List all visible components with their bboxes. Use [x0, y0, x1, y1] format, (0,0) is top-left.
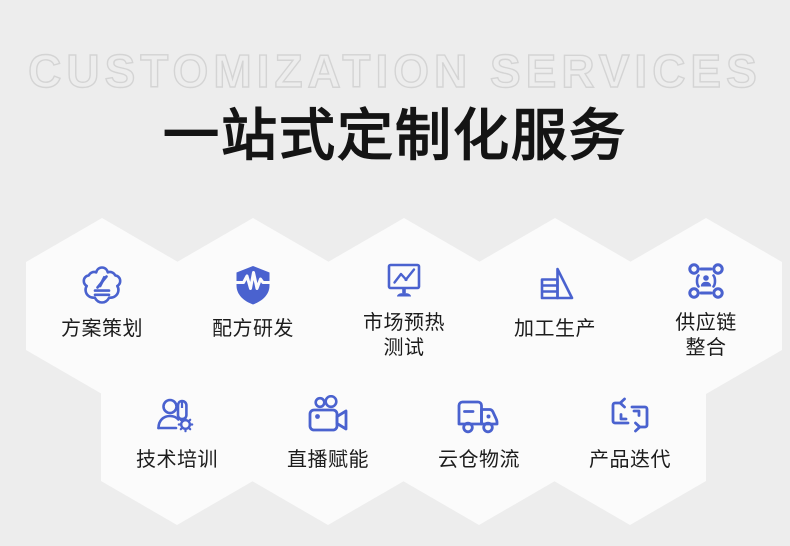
service-label: 产品迭代 — [560, 447, 700, 472]
service-label: 加工生产 — [485, 316, 625, 341]
service-label: 市场预热 测试 — [334, 310, 474, 360]
services-hex-grid: 方案策划 配方研发 市场预热 — [0, 196, 790, 546]
monitor-chart-icon — [382, 258, 426, 304]
video-camera-icon — [305, 393, 351, 439]
service-label-line2: 整合 — [686, 335, 727, 359]
shield-pulse-icon — [231, 262, 275, 308]
factory-icon — [532, 262, 578, 308]
supply-network-icon — [685, 258, 727, 304]
service-label-line1: 市场预热 — [363, 310, 445, 334]
service-label: 直播赋能 — [258, 447, 398, 472]
customization-services-page: CUSTOMIZATION SERVICES 一站式定制化服务 方案策划 — [0, 0, 790, 546]
service-label: 云仓物流 — [409, 447, 549, 472]
page-title: 一站式定制化服务 — [0, 106, 790, 168]
service-label-line2: 测试 — [384, 335, 425, 359]
person-gear-icon — [154, 393, 200, 439]
service-label: 技术培训 — [107, 447, 247, 472]
service-label: 供应链 整合 — [636, 310, 776, 360]
refresh-square-icon — [608, 393, 652, 439]
outline-heading: CUSTOMIZATION SERVICES — [0, 46, 790, 96]
service-label: 方案策划 — [32, 316, 172, 341]
delivery-truck-icon — [455, 393, 503, 439]
page-header: CUSTOMIZATION SERVICES 一站式定制化服务 — [0, 0, 790, 200]
service-label-line1: 供应链 — [675, 310, 737, 334]
service-label: 配方研发 — [183, 316, 323, 341]
cloud-plan-icon — [79, 262, 125, 308]
